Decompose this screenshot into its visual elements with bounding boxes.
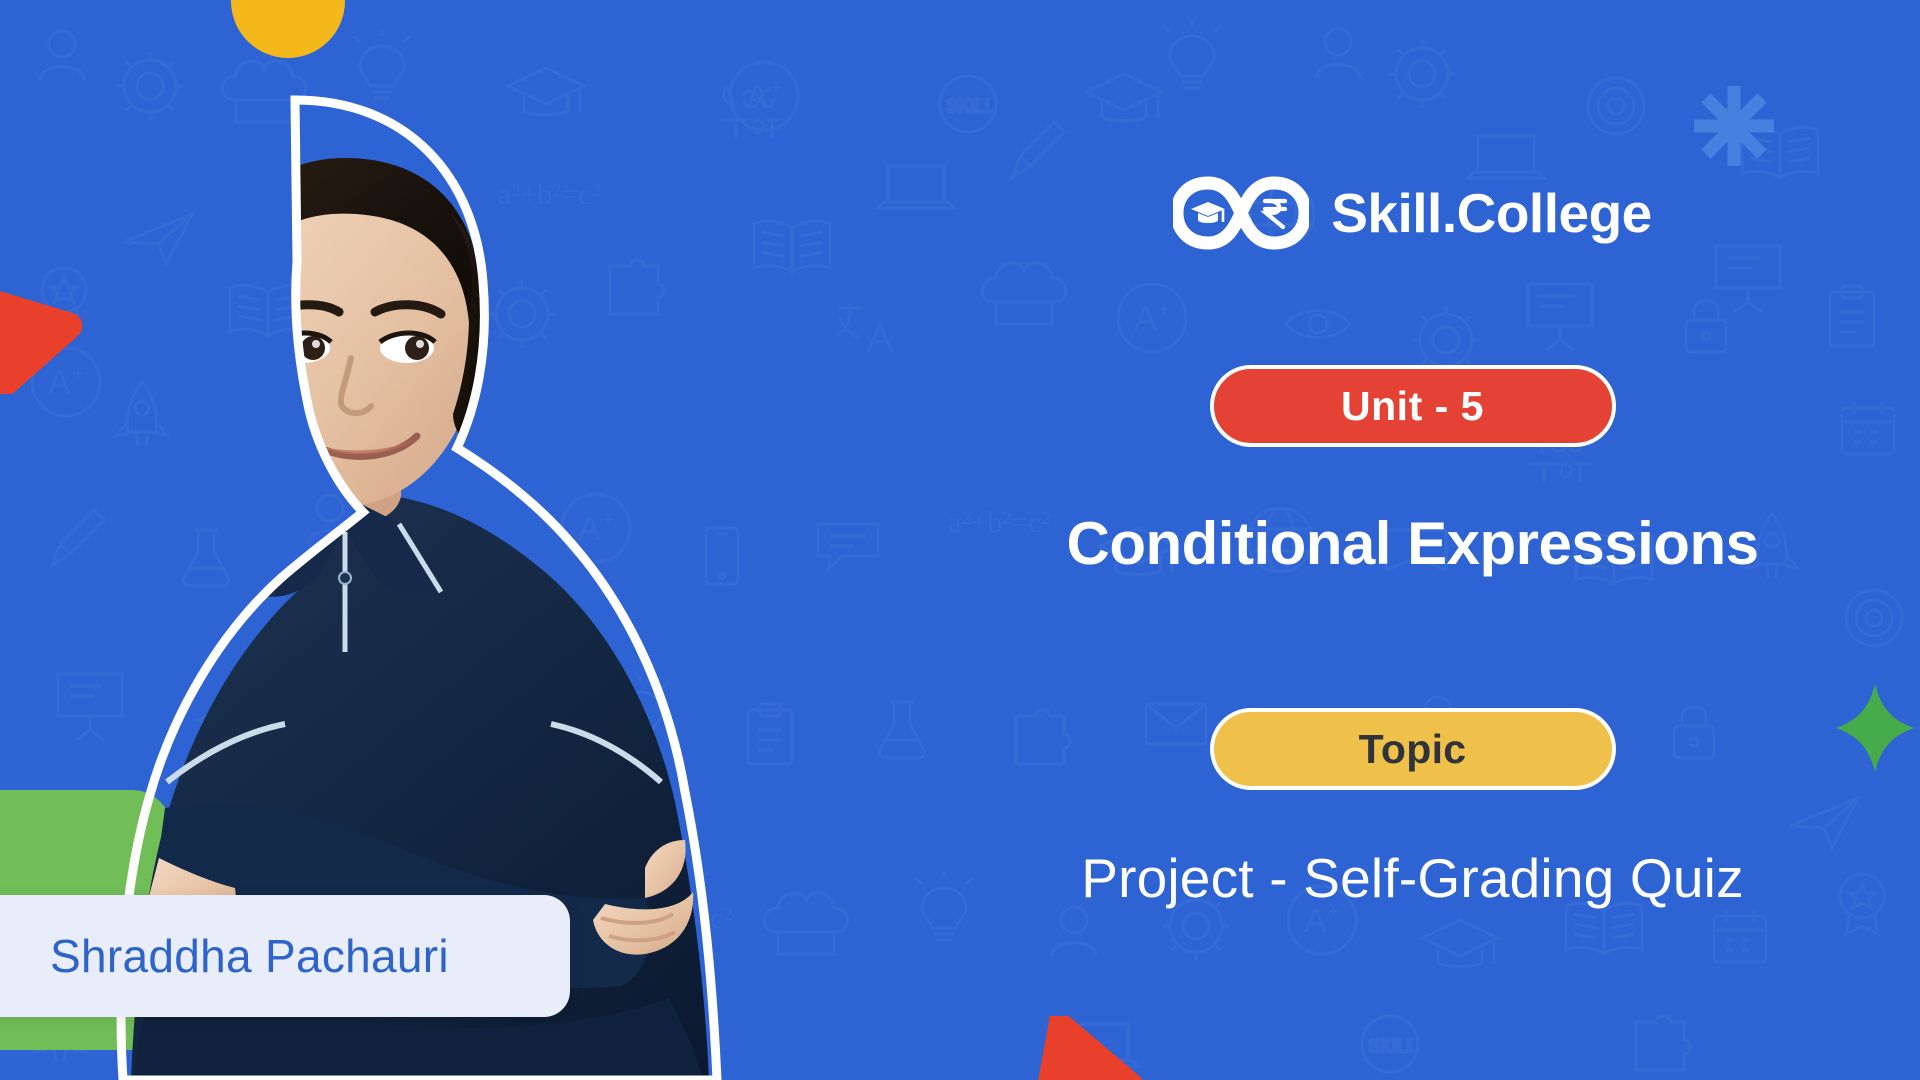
presenter-name-card: Shraddha Pachauri bbox=[0, 895, 570, 1017]
topic-badge-label: Topic bbox=[1359, 726, 1467, 773]
yellow-circle-decoration bbox=[231, 0, 345, 58]
infinity-graduation-rupee-icon bbox=[1173, 175, 1309, 251]
course-title: Conditional Expressions bbox=[1067, 509, 1759, 578]
topic-badge: Topic bbox=[1210, 708, 1616, 790]
brand-name: Skill.College bbox=[1331, 186, 1652, 241]
presenter-name: Shraddha Pachauri bbox=[50, 929, 449, 983]
slide-content-column: Skill.College Unit - 5 Conditional Expre… bbox=[905, 0, 1920, 1080]
course-title-slide: A + bbox=[0, 0, 1920, 1080]
topic-title: Project - Self-Grading Quiz bbox=[1081, 846, 1744, 910]
unit-badge-label: Unit - 5 bbox=[1341, 383, 1484, 430]
unit-badge: Unit - 5 bbox=[1210, 365, 1616, 447]
brand-logo: Skill.College bbox=[1173, 175, 1652, 251]
